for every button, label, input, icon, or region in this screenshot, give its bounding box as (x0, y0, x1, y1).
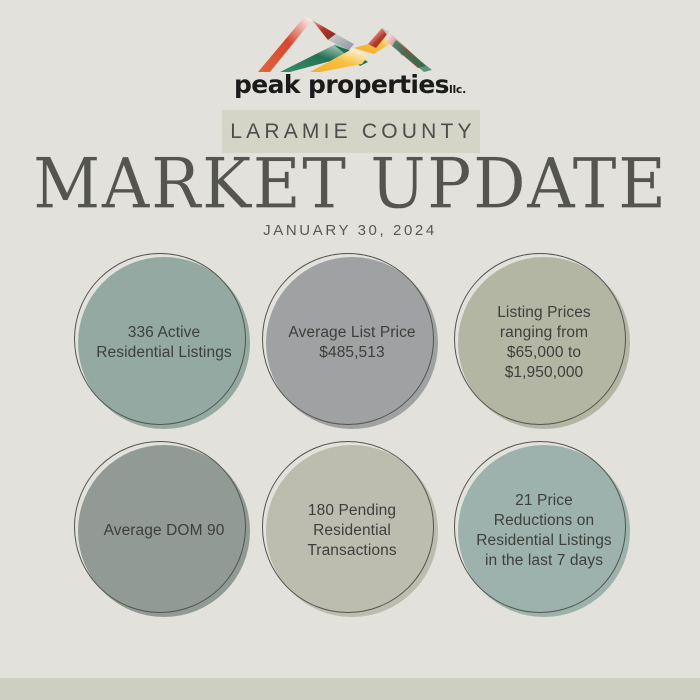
brand-wordmark: peak propertiesllc. (0, 70, 700, 99)
brand-name-text: peak properties (234, 70, 449, 99)
metrics-grid: 336 Active Residential Listings Average … (0, 253, 700, 653)
metric-text: Average DOM 90 (104, 521, 225, 541)
brand-logo: peak propertiesllc. (0, 10, 700, 102)
bottom-accent-band (0, 678, 700, 700)
metric-text: 21 Price Reductions on Residential Listi… (476, 491, 612, 571)
date-text: JANUARY 30, 2024 (263, 222, 437, 239)
metric-label: Listing Prices ranging from $65,000 to $… (458, 257, 630, 429)
page-title: MARKET UPDATE (0, 152, 700, 216)
metric-label: Average DOM 90 (78, 445, 250, 617)
metric-label: Average List Price $485,513 (266, 257, 438, 429)
metric-text: 336 Active Residential Listings (96, 323, 232, 363)
headline-text: MARKET UPDATE (33, 148, 668, 220)
metric-bubble-listing-price-range: Listing Prices ranging from $65,000 to $… (454, 253, 630, 429)
metric-text: Average List Price $485,513 (284, 323, 420, 363)
metric-bubble-price-reductions-last-7-days: 21 Price Reductions on Residential Listi… (454, 441, 630, 617)
metric-label: 180 Pending Residential Transactions (266, 445, 438, 617)
report-date: JANUARY 30, 2024 (0, 222, 700, 240)
metric-label: 21 Price Reductions on Residential Listi… (458, 445, 630, 617)
brand-suffix-text: llc. (449, 83, 466, 96)
metric-label: 336 Active Residential Listings (78, 257, 250, 429)
mountain-peaks-logo-icon (250, 10, 450, 74)
metric-text: 180 Pending Residential Transactions (284, 501, 420, 561)
infographic-canvas: peak propertiesllc. LARAMIE COUNTY MARKE… (0, 0, 700, 700)
metric-bubble-active-residential-listings: 336 Active Residential Listings (74, 253, 250, 429)
metric-text: Listing Prices ranging from $65,000 to $… (476, 303, 612, 383)
metric-bubble-average-list-price: Average List Price $485,513 (262, 253, 438, 429)
metric-bubble-pending-residential-transactions: 180 Pending Residential Transactions (262, 441, 438, 617)
metric-bubble-average-dom: Average DOM 90 (74, 441, 250, 617)
county-label: LARAMIE COUNTY (226, 120, 476, 144)
